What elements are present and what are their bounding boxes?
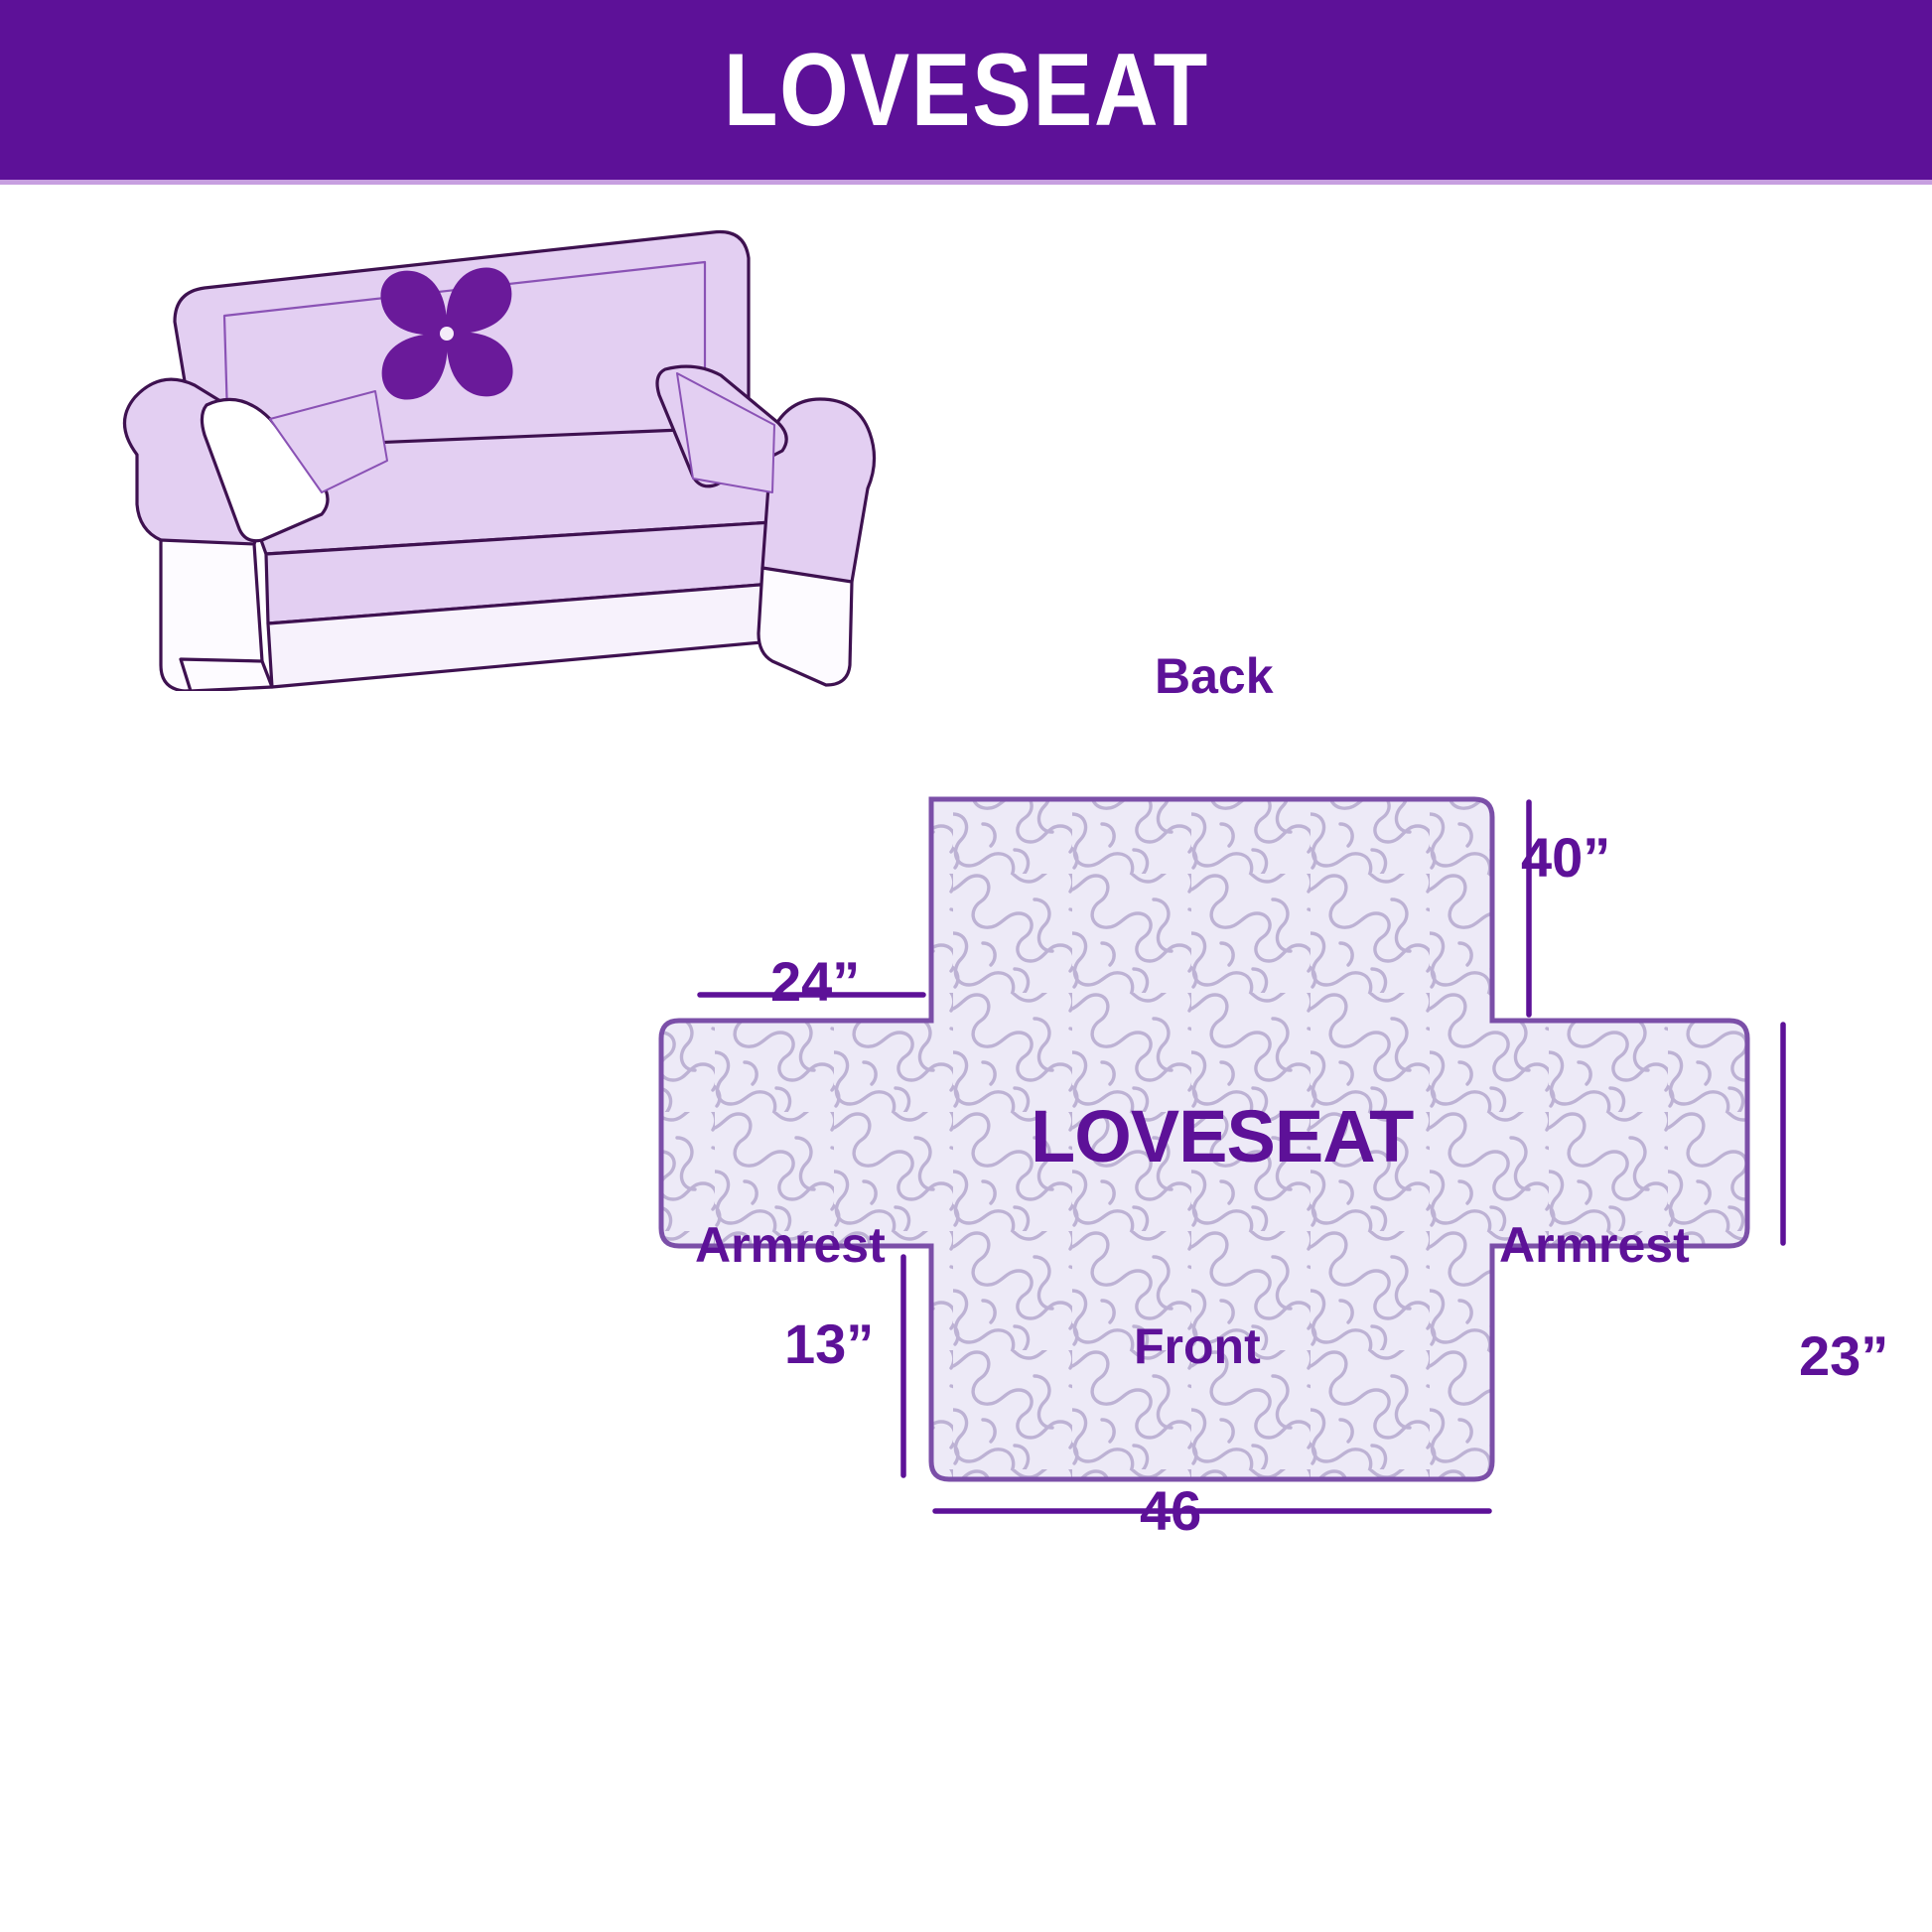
dimension-label-back-height: 40” <box>1521 830 1610 886</box>
page-title: LOVESEAT <box>723 39 1208 142</box>
loveseat-sofa-illustration <box>77 195 892 691</box>
page-header-banner: LOVESEAT <box>0 0 1932 180</box>
loveseat-spec-page: LOVESEAT <box>0 0 1932 1932</box>
panel-label-armrest-right: Armrest <box>1499 1220 1690 1270</box>
panel-label-armrest-left: Armrest <box>695 1220 886 1270</box>
dimension-label-front-width: 46 <box>1140 1483 1201 1539</box>
dimension-label-front-offset: 13” <box>784 1316 874 1372</box>
panel-label-front: Front <box>1134 1321 1261 1371</box>
panel-label-back: Back <box>1155 651 1274 701</box>
dimension-label-armrest-height: 23” <box>1799 1328 1888 1384</box>
dimension-label-back-offset: 24” <box>770 954 860 1010</box>
banner-divider <box>0 180 1932 185</box>
panel-label-center: LOVESEAT <box>1031 1100 1413 1173</box>
